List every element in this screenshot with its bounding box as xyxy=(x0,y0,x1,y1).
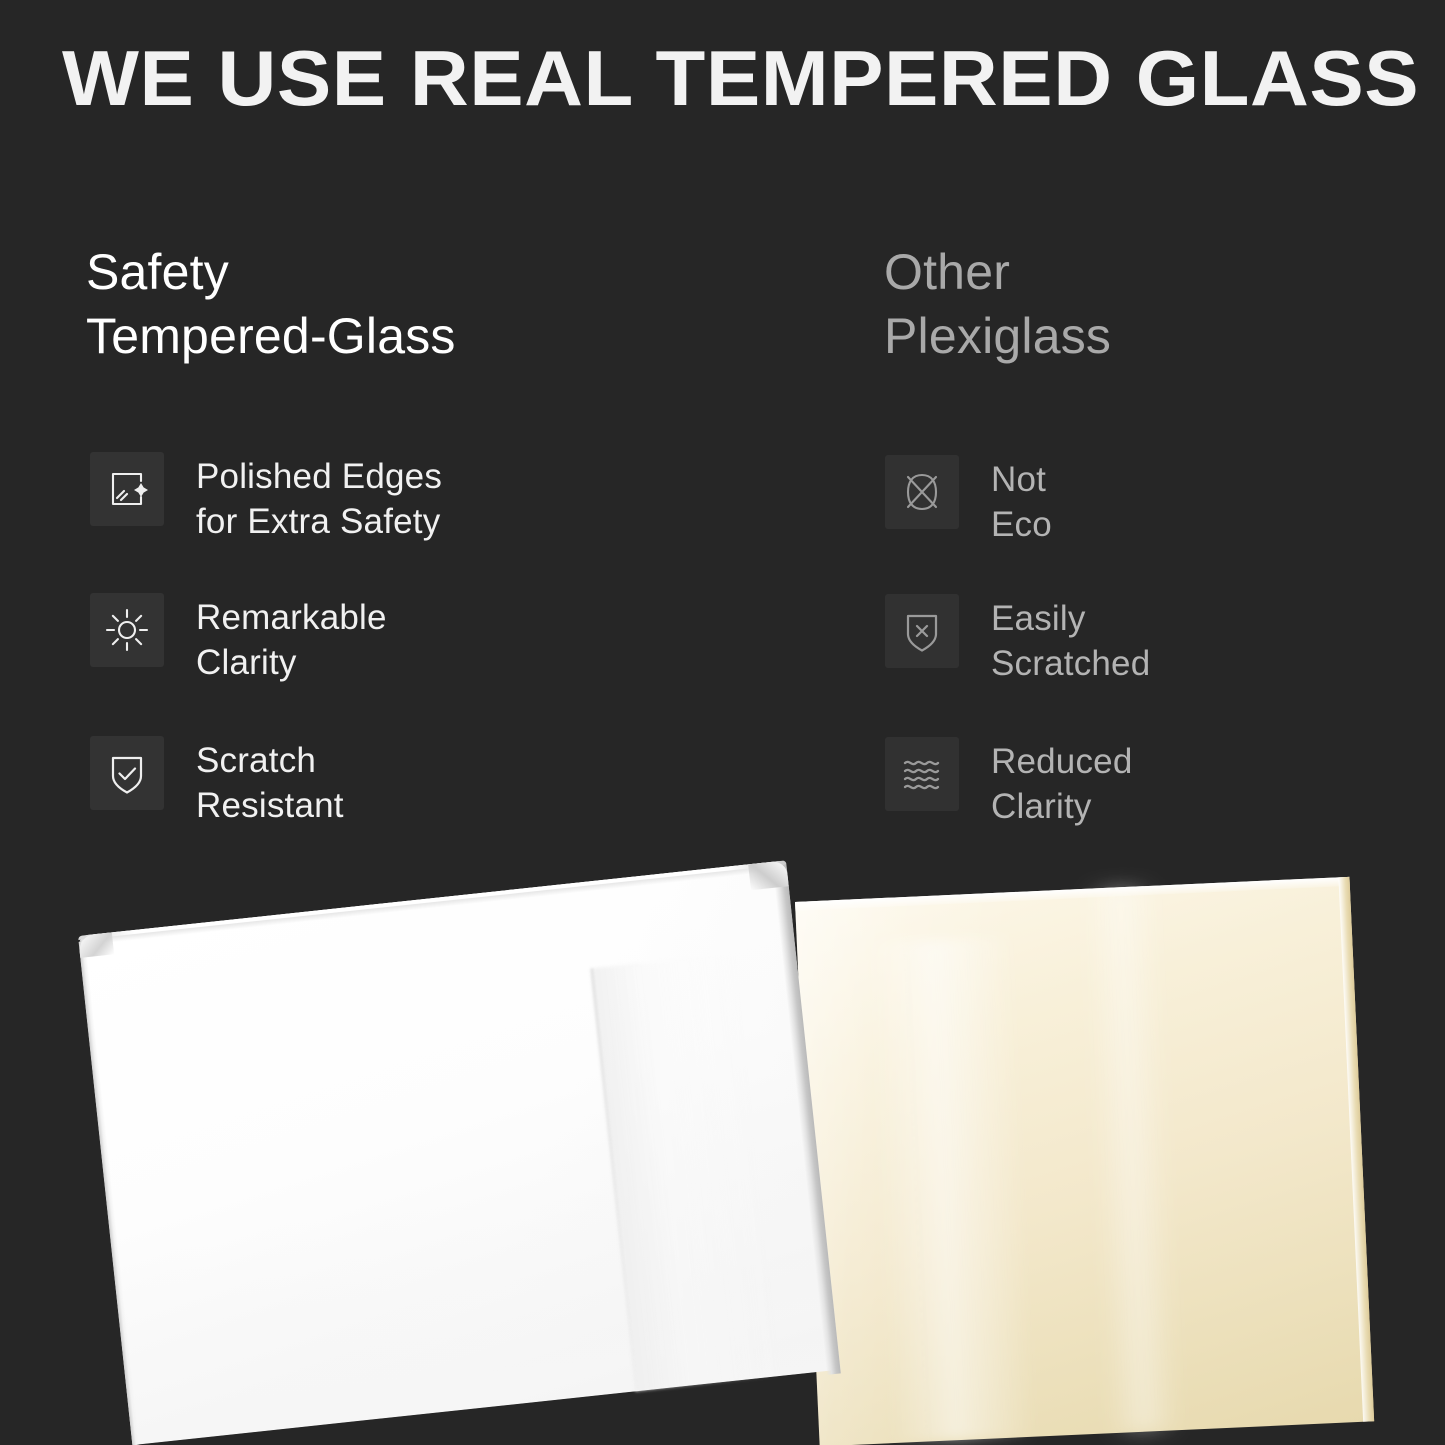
feature-right-1-line2: Scratched xyxy=(991,641,1150,686)
feature-item-reduced-clarity: Reduced Clarity xyxy=(885,737,1133,829)
plexiglass-sheen xyxy=(869,936,1036,1443)
feature-left-2-line1: Scratch xyxy=(196,741,316,780)
leaf-crossed-out-icon xyxy=(885,455,959,529)
feature-label-easily-scratched: Easily Scratched xyxy=(991,596,1150,686)
shield-x-icon xyxy=(885,594,959,668)
feature-left-1-line1: Remarkable xyxy=(196,598,387,637)
feature-label-not-eco: Not Eco xyxy=(991,457,1052,547)
page-title: WE USE REAL TEMPERED GLASS xyxy=(62,38,1445,120)
feature-label-scratch-resistant: Scratch Resistant xyxy=(196,738,344,828)
plexiglass-right-edge xyxy=(1338,877,1374,1422)
polished-glass-pane-sparkle-icon xyxy=(90,452,164,526)
feature-right-0-line1: Not xyxy=(991,460,1046,499)
feature-item-polished-edges: Polished Edges for Extra Safety xyxy=(90,452,442,544)
feature-label-polished-edges: Polished Edges for Extra Safety xyxy=(196,454,442,544)
feature-item-not-eco: Not Eco xyxy=(885,455,1052,547)
tempered-glass-corner-top-right xyxy=(748,860,789,890)
column-heading-right-line1: Other xyxy=(884,244,1010,300)
feature-right-0-line2: Eco xyxy=(991,502,1052,547)
column-heading-left-line1: Safety xyxy=(86,244,229,300)
feature-left-1-line2: Clarity xyxy=(196,640,387,685)
feature-left-2-line2: Resistant xyxy=(196,783,344,828)
promo-comparison-graphic: WE USE REAL TEMPERED GLASS Safety Temper… xyxy=(0,0,1445,1445)
plexiglass-sheen-secondary xyxy=(1083,886,1180,1434)
feature-left-0-line1: Polished Edges xyxy=(196,457,442,496)
plexiglass-top-edge xyxy=(795,877,1350,911)
feature-right-2-line2: Clarity xyxy=(991,784,1133,829)
wavy-lines-distortion-icon xyxy=(885,737,959,811)
feature-label-reduced-clarity: Reduced Clarity xyxy=(991,739,1133,829)
plexiglass-panel xyxy=(795,877,1374,1445)
feature-item-easily-scratched: Easily Scratched xyxy=(885,594,1150,686)
feature-item-remarkable-clarity: Remarkable Clarity xyxy=(90,593,387,685)
tempered-glass-top-gloss xyxy=(78,860,786,940)
feature-label-remarkable-clarity: Remarkable Clarity xyxy=(196,595,387,685)
feature-right-1-line1: Easily xyxy=(991,599,1086,638)
sun-brightness-icon xyxy=(90,593,164,667)
shield-check-icon xyxy=(90,736,164,810)
column-heading-tempered-glass: Safety Tempered-Glass xyxy=(86,240,456,368)
product-panels-image xyxy=(0,840,1445,1445)
feature-item-scratch-resistant: Scratch Resistant xyxy=(90,736,344,828)
feature-right-2-line1: Reduced xyxy=(991,742,1133,781)
column-heading-right-line2: Plexiglass xyxy=(884,304,1111,368)
tempered-glass-left-polished-edge xyxy=(79,941,140,1445)
tempered-glass-panel xyxy=(78,860,840,1445)
column-heading-plexiglass: Other Plexiglass xyxy=(884,240,1111,368)
column-heading-left-line2: Tempered-Glass xyxy=(86,304,456,368)
feature-left-0-line2: for Extra Safety xyxy=(196,499,442,544)
